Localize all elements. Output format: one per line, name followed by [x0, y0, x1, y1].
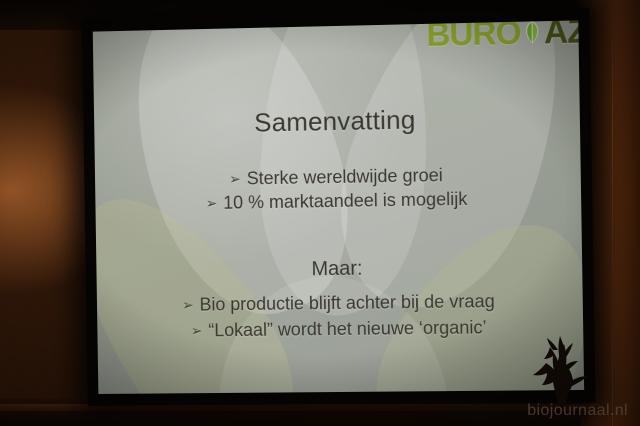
bullet-list-top: ➢ Sterke wereldwijde groei ➢ 10 % markta… [95, 160, 581, 219]
arrow-bullet-icon: ➢ [182, 297, 194, 314]
wall-seam [612, 0, 613, 426]
arrow-bullet-icon: ➢ [206, 195, 218, 212]
list-item: ➢ “Lokaal” wordt het nieuwe ‘organic’ [97, 316, 583, 342]
slide-content: BURO AZ Samenvatting ➢ Sterke were [93, 20, 584, 394]
logo-text-az: AZ [544, 20, 585, 48]
slide-title: Samenvatting [94, 101, 580, 141]
list-item: ➢ 10 % marktaandeel is mogelijk [95, 187, 581, 216]
plant-silhouette-icon [520, 330, 604, 408]
arrow-bullet-icon: ➢ [191, 323, 203, 340]
logo-text-buro: BURO [426, 20, 521, 51]
list-item: ➢ Bio productie blijft achter bij de vra… [97, 290, 583, 317]
list-item-label: Bio productie blijft achter bij de vraag [199, 291, 495, 316]
projection-screen: BURO AZ Samenvatting ➢ Sterke were [93, 20, 584, 394]
list-item-label: “Lokaal” wordt het nieuwe ‘organic’ [208, 317, 487, 341]
list-item-label: Sterke wereldwijde groei [247, 165, 443, 189]
screenshot-root: BURO AZ Samenvatting ➢ Sterke were [0, 0, 640, 426]
buro-az-logo: BURO AZ [426, 20, 584, 51]
leaf-icon [519, 20, 545, 46]
bullet-list-bottom: ➢ Bio productie blijft achter bij de vra… [97, 285, 584, 348]
arrow-bullet-icon: ➢ [229, 171, 241, 188]
list-item-label: 10 % marktaandeel is mogelijk [223, 189, 467, 214]
slide-subheading: Maar: [96, 255, 582, 284]
biojournaal-watermark: biojournaal.nl [527, 402, 628, 420]
projection-screen-frame: BURO AZ Samenvatting ➢ Sterke were [82, 8, 596, 406]
